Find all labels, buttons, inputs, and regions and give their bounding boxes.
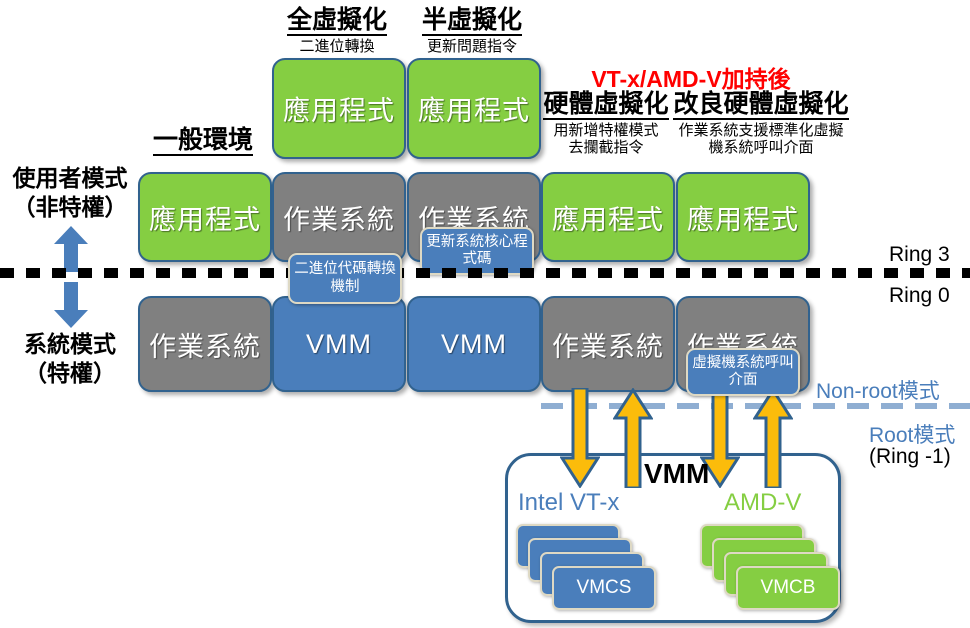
column-header-para-virtualization-title: 半虛擬化 [422,8,522,36]
system-mode-label-line2: （特權） [8,359,132,388]
vmcs-card-stack: VMCS [516,524,646,604]
box-user-hardware-virtualization[interactable]: 應用程式 [541,172,675,262]
column-header-hardware-virtualization-title: 硬體虛擬化 [543,92,668,120]
vmcb-card-stack: VMCB [700,524,830,604]
box-app-para-virtualization[interactable]: 應用程式 [407,58,541,159]
arrow-down-vmentry-intel [560,388,600,488]
box-user-improved-hardware-virtualization[interactable]: 應用程式 [676,172,810,262]
user-mode-label-line1: 使用者模式 [8,164,132,193]
ring-divider-line [0,268,970,278]
column-header-improved-hardware-virtualization-sub: 作業系統支援標準化虛擬機系統呼叫介面 [672,123,850,157]
down-arrow-icon [52,282,90,330]
box-system-full-virtualization[interactable]: VMM [272,296,406,392]
up-arrow-icon [52,224,90,272]
column-header-full-virtualization-sub: 二進位轉換 [272,39,402,56]
vt-x-amd-v-banner: VT-x/AMD-V加持後 [541,60,841,94]
vmcb-card[interactable]: VMCB [736,566,840,610]
box-user-normal[interactable]: 應用程式 [138,172,272,262]
user-mode-label-line2: （非特權） [8,193,132,222]
vmm-panel-title: VMM [644,458,709,490]
box-app-full-virtualization[interactable]: 應用程式 [272,58,406,159]
non-root-mode-label: Non-root模式 [816,375,940,405]
intel-vt-x-label: Intel VT-x [518,489,619,517]
box-user-full-virtualization[interactable]: 作業系統 [272,172,406,262]
badge-vm-syscall-interface[interactable]: 虛擬機系統呼叫介面 [686,348,800,396]
column-header-improved-hardware-virtualization-title: 改良硬體虛擬化 [673,92,848,120]
column-header-para-virtualization-sub: 更新問題指令 [407,39,537,56]
column-header-normal: 一般環境 [138,128,268,156]
box-system-hardware-virtualization[interactable]: 作業系統 [541,296,675,392]
ring0-label: Ring 0 [889,284,950,308]
column-header-full-virtualization-title: 全虛擬化 [287,8,387,36]
column-header-normal-title: 一般環境 [153,128,253,156]
user-mode-label: 使用者模式 （非特權） [8,164,132,222]
root-mode-ring-label: (Ring -1) [869,445,951,469]
column-header-para-virtualization: 半虛擬化 更新問題指令 [407,8,537,56]
ring3-label: Ring 3 [889,243,950,267]
system-mode-label: 系統模式 （特權） [8,330,132,388]
vmcs-card[interactable]: VMCS [552,566,656,610]
system-mode-label-line1: 系統模式 [8,330,132,359]
box-system-para-virtualization[interactable]: VMM [407,296,541,392]
amd-v-label: AMD-V [724,489,801,517]
badge-binary-translation[interactable]: 二進位代碼轉換機制 [288,253,402,304]
box-system-normal[interactable]: 作業系統 [138,296,272,392]
arrow-up-vmexit-amd [753,388,793,488]
column-header-hardware-virtualization: 硬體虛擬化 用新增特權模式去攔截指令 [531,92,681,157]
column-header-hardware-virtualization-sub: 用新增特權模式去攔截指令 [553,123,659,157]
column-header-improved-hardware-virtualization: 改良硬體虛擬化 作業系統支援標準化虛擬機系統呼叫介面 [666,92,856,157]
column-header-full-virtualization: 全虛擬化 二進位轉換 [272,8,402,56]
